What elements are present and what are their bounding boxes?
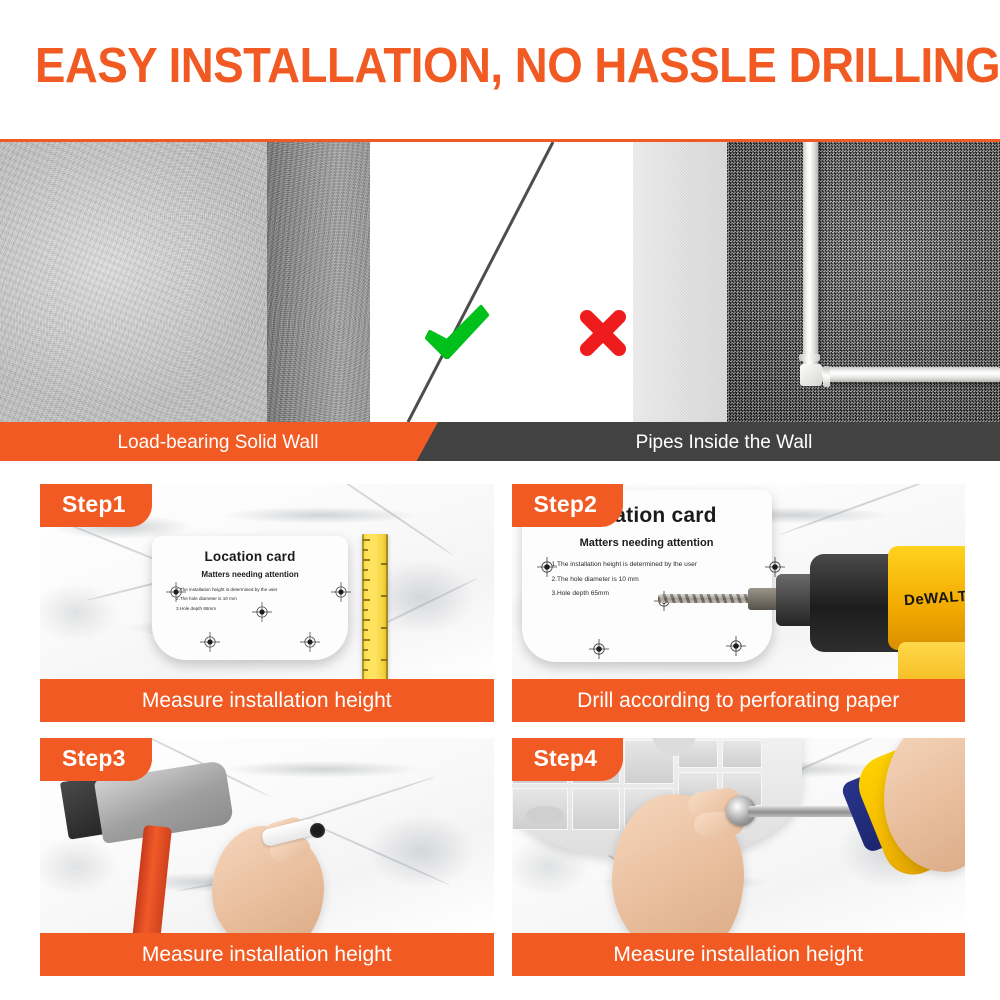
target-marker-icon [589, 639, 609, 659]
drilled-hole [310, 823, 325, 838]
pipe-collar-top [799, 354, 820, 361]
step-1-photo: Location card Matters needing attention … [40, 484, 494, 679]
pipe-shadow-horizontal [811, 382, 1000, 389]
pipe-vertical [803, 139, 818, 375]
step-caption-3: Measure installation height [40, 933, 494, 976]
target-marker-icon [537, 557, 557, 577]
target-marker-icon [252, 602, 272, 622]
step-4-photo: Step4 [512, 738, 966, 933]
location-card-subtitle: Matters needing attention [152, 570, 348, 579]
step-card-1: Location card Matters needing attention … [40, 484, 494, 722]
step-card-4: Step4 Measure installation height [512, 738, 966, 976]
drill-bit [658, 594, 754, 603]
drill-grip-yellow [898, 642, 966, 679]
pipe-elbow-joint [800, 364, 822, 386]
comparison-label-bands: Load-bearing Solid Wall Pipes Inside the… [0, 422, 1000, 461]
installation-steps-grid: Location card Matters needing attention … [40, 484, 965, 976]
solid-wall-texture-light [0, 142, 267, 422]
target-marker-icon [200, 632, 220, 652]
solid-wall-texture-dark [267, 142, 370, 422]
step-card-3: Step3 Measure installation height [40, 738, 494, 976]
step-badge-1: Step1 [40, 484, 152, 527]
target-marker-icon [300, 632, 320, 652]
green-check-icon [425, 305, 489, 359]
left-wall-label: Load-bearing Solid Wall [0, 422, 436, 461]
wall-comparison-panel: Load-bearing Solid Wall Pipes Inside the… [0, 139, 1000, 461]
wall-pipes-illustration [727, 142, 1000, 422]
target-marker-icon [331, 582, 351, 602]
step-badge-3: Step3 [40, 738, 152, 781]
right-wall-label: Pipes Inside the Wall [448, 422, 1000, 461]
step-2-photo: Location card Matters needing attention … [512, 484, 966, 679]
bracket-slot [526, 806, 564, 824]
drill-bit-flutes [658, 594, 754, 603]
pipe-collar-side [823, 366, 830, 387]
stucco-wall-texture [633, 142, 727, 422]
infographic-page: EASY INSTALLATION, NO HASSLE DRILLING [0, 0, 1000, 1000]
page-title: EASY INSTALLATION, NO HASSLE DRILLING [35, 38, 965, 94]
pipe-horizontal [811, 367, 1000, 382]
red-cross-icon [578, 308, 628, 358]
pipe-shadow-vertical [818, 142, 825, 377]
step-card-2: Location card Matters needing attention … [512, 484, 966, 722]
step-caption-2: Drill according to perforating paper [512, 679, 966, 722]
step-badge-2: Step2 [512, 484, 624, 527]
step-3-photo: Step3 [40, 738, 494, 933]
step-caption-4: Measure installation height [512, 933, 966, 976]
step-badge-4: Step4 [512, 738, 624, 781]
location-card-note-1: 1.The installation height is determined … [176, 585, 348, 594]
diagonal-divider [370, 142, 633, 422]
power-drill: DeWALT [652, 546, 966, 679]
step-caption-1: Measure installation height [40, 679, 494, 722]
comparison-images [0, 142, 1000, 422]
target-marker-icon [166, 582, 186, 602]
location-card-title: Location card [152, 549, 348, 564]
measuring-ruler [362, 534, 388, 679]
